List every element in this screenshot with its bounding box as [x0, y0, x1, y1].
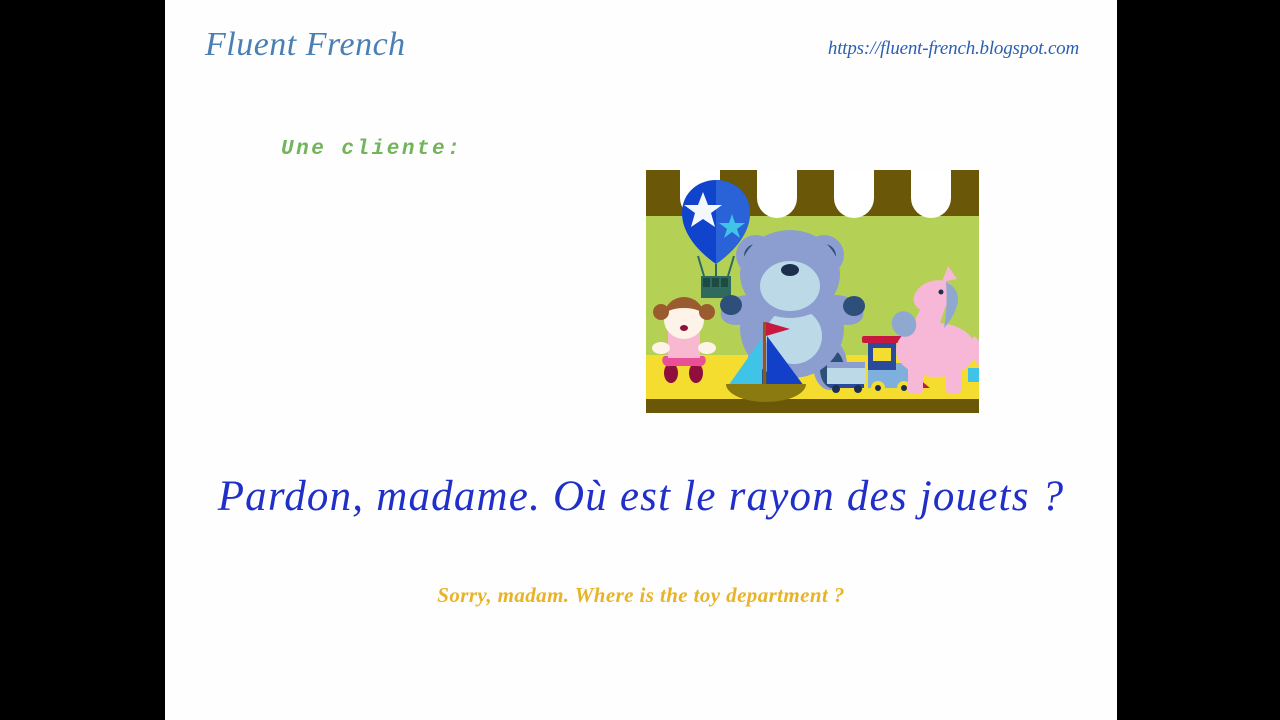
video-frame: Fluent French https://fluent-french.blog… — [0, 0, 1280, 720]
speaker-label: Une cliente: — [281, 138, 462, 161]
letterbox-bar-right — [1117, 0, 1280, 720]
shop-base-bar — [646, 399, 979, 413]
toy-shop-scene-svg — [646, 170, 979, 413]
slide-canvas: Fluent French https://fluent-french.blog… — [165, 0, 1117, 720]
letterbox-bar-left — [0, 0, 165, 720]
page-title: Fluent French — [205, 26, 406, 64]
toy-shop-illustration — [646, 170, 979, 413]
french-sentence: Pardon, madame. Où est le rayon des joue… — [165, 472, 1117, 521]
english-translation: Sorry, madam. Where is the toy departmen… — [165, 583, 1117, 608]
site-url-link[interactable]: https://fluent-french.blogspot.com — [828, 38, 1079, 60]
